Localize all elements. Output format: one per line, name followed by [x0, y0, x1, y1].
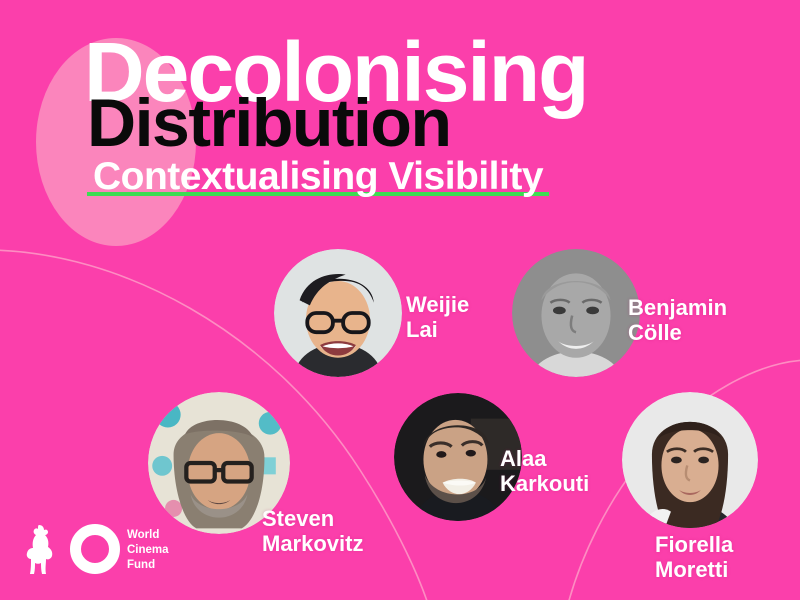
logo-text: World Cinema Fund [127, 528, 169, 573]
world-cinema-fund-logo: World Cinema Fund [26, 518, 176, 584]
avatar [622, 392, 758, 528]
ring-o-icon [70, 524, 120, 574]
title-line-2: Distribution [87, 94, 724, 152]
subtitle-wrap: Contextualising Visibility [87, 157, 549, 200]
title-block: Decolonising Distribution Contextualisin… [84, 36, 724, 200]
speaker-name: Alaa Karkouti [500, 447, 589, 496]
speaker-name: Fiorella Moretti [655, 533, 733, 582]
speaker-name: Benjamin Cölle [628, 296, 727, 345]
title-line-3: Contextualising Visibility [93, 157, 543, 196]
presentation-slide: Decolonising Distribution Contextualisin… [0, 0, 800, 600]
avatar [512, 249, 640, 377]
speaker-name: Weijie Lai [406, 293, 469, 342]
berlinale-bear-icon [26, 524, 56, 576]
speaker-name: Steven Markovitz [262, 507, 363, 556]
avatar [274, 249, 402, 377]
